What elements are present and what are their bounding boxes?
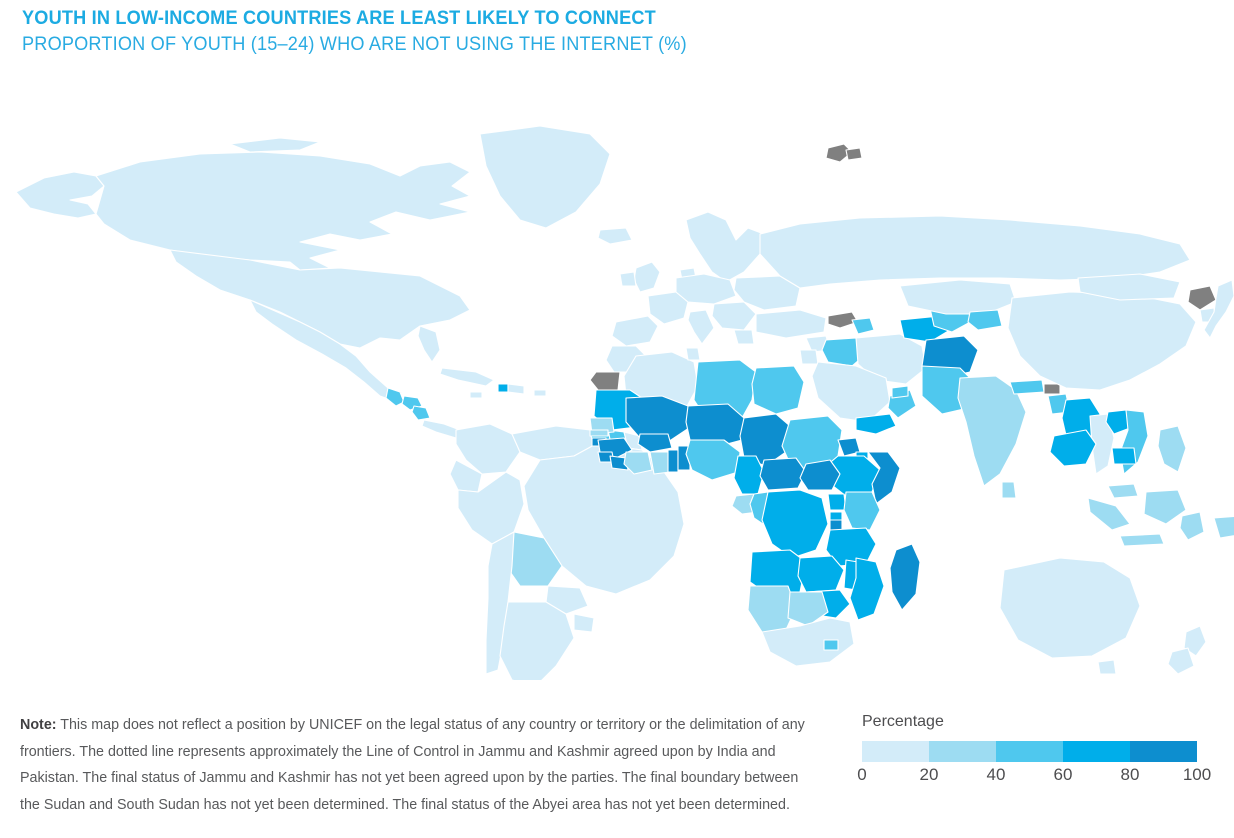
chart-header: YOUTH IN LOW-INCOME COUNTRIES ARE LEAST …: [22, 6, 1202, 57]
region-sri-lanka: [1002, 482, 1016, 498]
region-kazakhstan: [900, 280, 1016, 314]
legend-tick-0: 0: [857, 765, 866, 785]
legend-tick-4: 80: [1121, 765, 1140, 785]
region-canada-islands: [230, 138, 320, 152]
region-uganda: [828, 494, 846, 510]
map-note: Note: This map does not reflect a positi…: [20, 712, 820, 818]
region-guatemala: [386, 388, 404, 406]
region-dominican-republic: [508, 384, 524, 394]
region-north-america: [16, 126, 610, 438]
page-subtitle: PROPORTION OF YOUTH (15–24) WHO ARE NOT …: [22, 31, 1119, 57]
region-turkey: [756, 310, 826, 338]
legend-swatch-3: [1063, 741, 1130, 762]
region-central-african-republic: [760, 458, 806, 490]
region-italy: [688, 310, 714, 344]
region-borneo: [1144, 490, 1186, 524]
legend-tick-5: 100: [1183, 765, 1211, 785]
region-rwanda: [830, 512, 842, 520]
region-norway-sweden-finland: [686, 212, 764, 282]
region-argentina: [500, 602, 574, 680]
region-haiti: [498, 384, 508, 392]
region-ghana: [650, 452, 670, 474]
region-svalbard-east: [846, 148, 862, 160]
region-costa-rica-panama: [422, 420, 460, 438]
region-cuba: [440, 368, 494, 386]
legend-color-bar: [862, 741, 1197, 762]
region-jamaica: [470, 392, 482, 398]
region-greece: [734, 330, 754, 344]
region-uae: [892, 386, 908, 398]
legend-tick-1: 20: [920, 765, 939, 785]
legend-title: Percentage: [862, 712, 1202, 732]
region-united-kingdom: [634, 262, 660, 292]
region-sumatra: [1088, 498, 1130, 530]
region-tunisia: [686, 348, 700, 360]
region-cambodia: [1112, 448, 1136, 464]
region-tasmania: [1098, 660, 1116, 674]
region-armenia-azerbaijan: [852, 318, 874, 334]
region-north-korea: [1188, 286, 1216, 310]
region-burkina-faso: [638, 434, 672, 452]
region-nepal: [1010, 380, 1044, 394]
region-kenya: [844, 492, 880, 530]
region-kyrgyzstan-tajikistan: [968, 310, 1002, 330]
region-greenland: [480, 126, 610, 228]
region-spain-portugal: [612, 316, 658, 346]
region-burundi: [830, 520, 842, 530]
region-alaska: [16, 172, 104, 218]
page-title: YOUTH IN LOW-INCOME COUNTRIES ARE LEAST …: [22, 6, 1119, 31]
map-legend: Percentage 0 20 40 60 80 100: [862, 712, 1202, 789]
legend-tick-labels: 0 20 40 60 80 100: [862, 765, 1197, 789]
map-svg: .c0{fill:#d3ecf9}.c1{fill:#9ddcf2}.c2{fi…: [0, 100, 1234, 680]
region-zambia: [798, 556, 844, 592]
region-togo: [668, 450, 678, 472]
region-philippines: [1158, 426, 1186, 472]
note-text: This map does not reflect a position by …: [20, 717, 805, 813]
legend-tick-3: 60: [1054, 765, 1073, 785]
legend-swatch-4: [1130, 741, 1197, 762]
region-canada: [96, 152, 470, 270]
region-china: [1008, 292, 1196, 390]
region-puerto-rico: [534, 390, 546, 396]
region-egypt: [752, 366, 804, 414]
region-ireland: [620, 272, 636, 286]
region-papua-new-guinea: [1050, 430, 1096, 466]
region-gambia: [590, 430, 608, 436]
region-java: [1120, 534, 1164, 546]
region-australia: [1000, 558, 1140, 658]
region-nicaragua: [412, 406, 430, 420]
region-new-guinea-west: [1214, 516, 1234, 538]
region-nigeria: [686, 440, 740, 480]
region-balkans: [712, 302, 756, 330]
world-choropleth-map: .c0{fill:#d3ecf9}.c1{fill:#9ddcf2}.c2{fi…: [0, 100, 1234, 680]
region-malaysia: [1108, 484, 1138, 498]
legend-swatch-2: [996, 741, 1063, 762]
region-western-sahara: [590, 372, 620, 390]
region-usa-florida: [418, 326, 440, 362]
region-iceland: [598, 228, 632, 244]
region-sulawesi: [1180, 512, 1204, 540]
region-drc: [762, 490, 828, 558]
region-madagascar: [890, 544, 920, 610]
legend-swatch-0: [862, 741, 929, 762]
region-lesotho: [824, 640, 838, 650]
note-label: Note:: [20, 717, 57, 733]
legend-tick-2: 40: [987, 765, 1006, 785]
region-israel-jordan: [800, 350, 818, 364]
region-bhutan: [1044, 384, 1060, 394]
region-uruguay: [574, 614, 594, 632]
region-yemen: [856, 414, 896, 434]
legend-swatch-1: [929, 741, 996, 762]
